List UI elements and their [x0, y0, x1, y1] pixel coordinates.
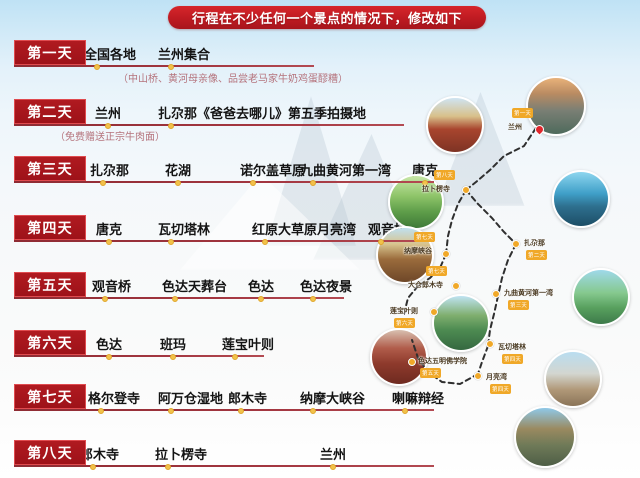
- map-label-seda-academy: 色达五明佛学院: [418, 356, 467, 366]
- stop-label: 观音桥: [92, 276, 131, 295]
- timeline-dot: [175, 180, 181, 186]
- infographic-canvas: 行程在不少任何一个景点的情况下，修改如下 第一天全国各地兰州集合（中山桥、黄河母…: [0, 0, 640, 478]
- timeline-dot: [168, 123, 174, 129]
- timeline-rail: [14, 465, 434, 467]
- timeline-dot: [102, 296, 108, 302]
- map-tag-jiuqu-bend: 第三天: [508, 300, 529, 310]
- map-tag-zhagana: 第二天: [526, 250, 547, 260]
- map-label-namo-canyon: 纳摩峡谷: [404, 246, 432, 256]
- marker-namo-canyon-pin[interactable]: [442, 250, 450, 258]
- timeline-dot: [170, 354, 176, 360]
- day-badge-6[interactable]: 第六天: [14, 330, 86, 355]
- stop-label: 阿万仓湿地: [158, 388, 223, 407]
- day-note: （免费赠送正宗牛肉面）: [55, 128, 165, 143]
- day-badge-label: 第七天: [27, 387, 73, 407]
- day-badge-8[interactable]: 第八天: [14, 440, 86, 465]
- stop-label: 拉卜楞寺: [155, 444, 207, 463]
- stop-label: 色达天葬台: [162, 276, 227, 295]
- timeline-rail: [14, 355, 264, 357]
- timeline-dot: [98, 408, 104, 414]
- stop-label: 色达: [248, 276, 274, 295]
- stop-label: 格尔登寺: [88, 388, 140, 407]
- stop-label: 诺尔盖草原: [240, 160, 305, 179]
- timeline-rail: [14, 297, 344, 299]
- map-tag-labuleng: 第八天: [434, 170, 455, 180]
- stop-label: 色达夜景: [300, 276, 352, 295]
- timeline-dot: [168, 64, 174, 70]
- day-badge-label: 第六天: [27, 333, 73, 353]
- marker-lianbaoyeze-pin[interactable]: [430, 308, 438, 316]
- map-label-labuleng: 拉卜楞寺: [422, 184, 450, 194]
- marker-zhagana-pin[interactable]: [512, 240, 520, 248]
- timeline-dot: [378, 239, 384, 245]
- map-tag-moon-bay: 第四天: [490, 384, 511, 394]
- day-badge-1[interactable]: 第一天: [14, 40, 86, 65]
- day-badge-4[interactable]: 第四天: [14, 215, 86, 240]
- day-badge-label: 第三天: [27, 159, 73, 179]
- timeline-dot: [106, 354, 112, 360]
- itinerary-row: 第一天全国各地兰州集合: [14, 40, 640, 68]
- timeline-dot: [100, 180, 106, 186]
- timeline-dot: [262, 239, 268, 245]
- map-label-moon-bay: 月亮湾: [486, 372, 507, 382]
- marker-labuleng-pin[interactable]: [462, 186, 470, 194]
- timeline-dot: [330, 464, 336, 470]
- timeline-dot: [310, 296, 316, 302]
- day-badge-label: 第五天: [27, 275, 73, 295]
- timeline-dot: [165, 464, 171, 470]
- route-map: 兰州 第一天 拉卜楞寺 第八天 纳摩峡谷 第七天 扎尕那 第二天 大仓郎木寺 第…: [404, 78, 640, 478]
- timeline-dot: [168, 239, 174, 245]
- timeline-dot: [310, 180, 316, 186]
- timeline-dot: [250, 180, 256, 186]
- day-badge-label: 第二天: [27, 102, 73, 122]
- stop-label: 九曲黄河第一湾: [300, 160, 391, 179]
- stop-label: 班玛: [160, 334, 186, 353]
- stop-label: 瓦切塔林: [158, 219, 210, 238]
- timeline-dot: [238, 408, 244, 414]
- stop-label: 扎尕那《爸爸去哪儿》第五季拍摄地: [158, 103, 366, 122]
- day-badge-7[interactable]: 第七天: [14, 384, 86, 409]
- day-badge-3[interactable]: 第三天: [14, 156, 86, 181]
- stop-label: 兰州: [320, 444, 346, 463]
- timeline-dot: [232, 354, 238, 360]
- stop-label: 全国各地: [84, 44, 136, 63]
- timeline-rail: [14, 409, 434, 411]
- timeline-dot: [94, 64, 100, 70]
- day-badge-5[interactable]: 第五天: [14, 272, 86, 297]
- timeline-dot: [172, 296, 178, 302]
- marker-moon-bay-pin[interactable]: [474, 372, 482, 380]
- marker-waqie-pagoda-pin[interactable]: [486, 340, 494, 348]
- map-tag-dacang-langmu: 第七天: [426, 266, 447, 276]
- header-banner-text: 行程在不少任何一个景点的情况下，修改如下: [192, 8, 462, 27]
- timeline-dot: [168, 408, 174, 414]
- day-note: （中山桥、黄河母亲像、品尝老马家牛奶鸡蛋醪糟）: [118, 70, 348, 85]
- stop-label: 扎尕那: [90, 160, 129, 179]
- timeline-dot: [106, 239, 112, 245]
- timeline-rail: [14, 240, 434, 242]
- map-label-jiuqu-bend: 九曲黄河第一湾: [504, 288, 553, 298]
- marker-jiuqu-bend-pin[interactable]: [492, 290, 500, 298]
- stop-label: 唐克: [96, 219, 122, 238]
- stop-label: 纳摩大峡谷: [300, 388, 365, 407]
- stop-label: 莲宝叶则: [222, 334, 274, 353]
- day-badge-label: 第八天: [27, 443, 73, 463]
- map-label-dacang-langmu: 大仓郎木寺: [408, 280, 443, 290]
- stop-label: 花湖: [165, 160, 191, 179]
- timeline-dot: [105, 123, 111, 129]
- map-tag-seda-academy: 第五天: [420, 368, 441, 378]
- day-badge-2[interactable]: 第二天: [14, 99, 86, 124]
- map-label-waqie-pagoda: 瓦切塔林: [498, 342, 526, 352]
- map-label-zhagana: 扎尕那: [524, 238, 545, 248]
- timeline-rail: [14, 124, 404, 126]
- timeline-dot: [258, 296, 264, 302]
- stop-label: 色达: [96, 334, 122, 353]
- map-tag-namo-canyon: 第七天: [414, 232, 435, 242]
- marker-seda-academy-pin[interactable]: [408, 358, 416, 366]
- timeline-rail: [14, 181, 434, 183]
- timeline-dot: [90, 464, 96, 470]
- header-banner: 行程在不少任何一个景点的情况下，修改如下: [168, 6, 486, 29]
- timeline-dot: [310, 408, 316, 414]
- stop-label: 郎木寺: [228, 388, 267, 407]
- day-badge-label: 第四天: [27, 218, 73, 238]
- map-tag-lianbaoyeze: 第六天: [394, 318, 415, 328]
- map-label-lianbaoyeze: 莲宝叶则: [390, 306, 418, 316]
- timeline-rail: [14, 65, 314, 67]
- route-path: [404, 78, 640, 478]
- stop-label: 兰州: [95, 103, 121, 122]
- map-tag-waqie-pagoda: 第四天: [502, 354, 523, 364]
- stop-label: 兰州集合: [158, 44, 210, 63]
- map-tag-lanzhou: 第一天: [512, 108, 533, 118]
- marker-dacang-langmu-pin[interactable]: [452, 282, 460, 290]
- map-label-lanzhou: 兰州: [508, 122, 522, 132]
- day-badge-label: 第一天: [27, 43, 73, 63]
- stop-label: 红原大草原月亮湾: [252, 219, 356, 238]
